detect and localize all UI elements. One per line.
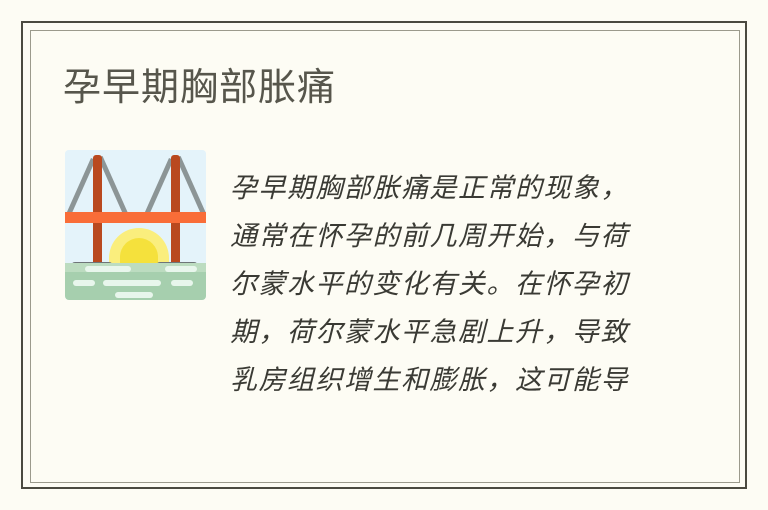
article-body: 孕早期胸部胀痛是正常的现象， 通常在怀孕的前几周开始，与荷 尔蒙水平的变化有关。…	[230, 164, 650, 404]
bridge-sunset-illustration	[65, 150, 206, 300]
body-line: 通常在怀孕的前几周开始，与荷	[230, 212, 650, 260]
body-line: 期，荷尔蒙水平急剧上升，导致	[230, 308, 650, 356]
body-line: 孕早期胸部胀痛是正常的现象，	[230, 164, 650, 212]
body-line: 尔蒙水平的变化有关。在怀孕初	[230, 260, 650, 308]
bridge-deck	[65, 212, 206, 223]
wave-line-1	[85, 266, 131, 272]
article-page: 孕早期胸部胀痛 孕早期胸部胀痛是	[0, 0, 768, 510]
wave-line-5	[171, 280, 193, 286]
page-title: 孕早期胸部胀痛	[63, 66, 336, 110]
wave-line-4	[103, 280, 161, 286]
wave-line-2	[165, 266, 197, 272]
wave-line-6	[115, 292, 153, 298]
body-line: 乳房组织增生和膨胀，这可能导	[230, 356, 650, 404]
wave-line-3	[73, 280, 95, 286]
article-content: 孕早期胸部胀痛 孕早期胸部胀痛是	[0, 0, 768, 510]
